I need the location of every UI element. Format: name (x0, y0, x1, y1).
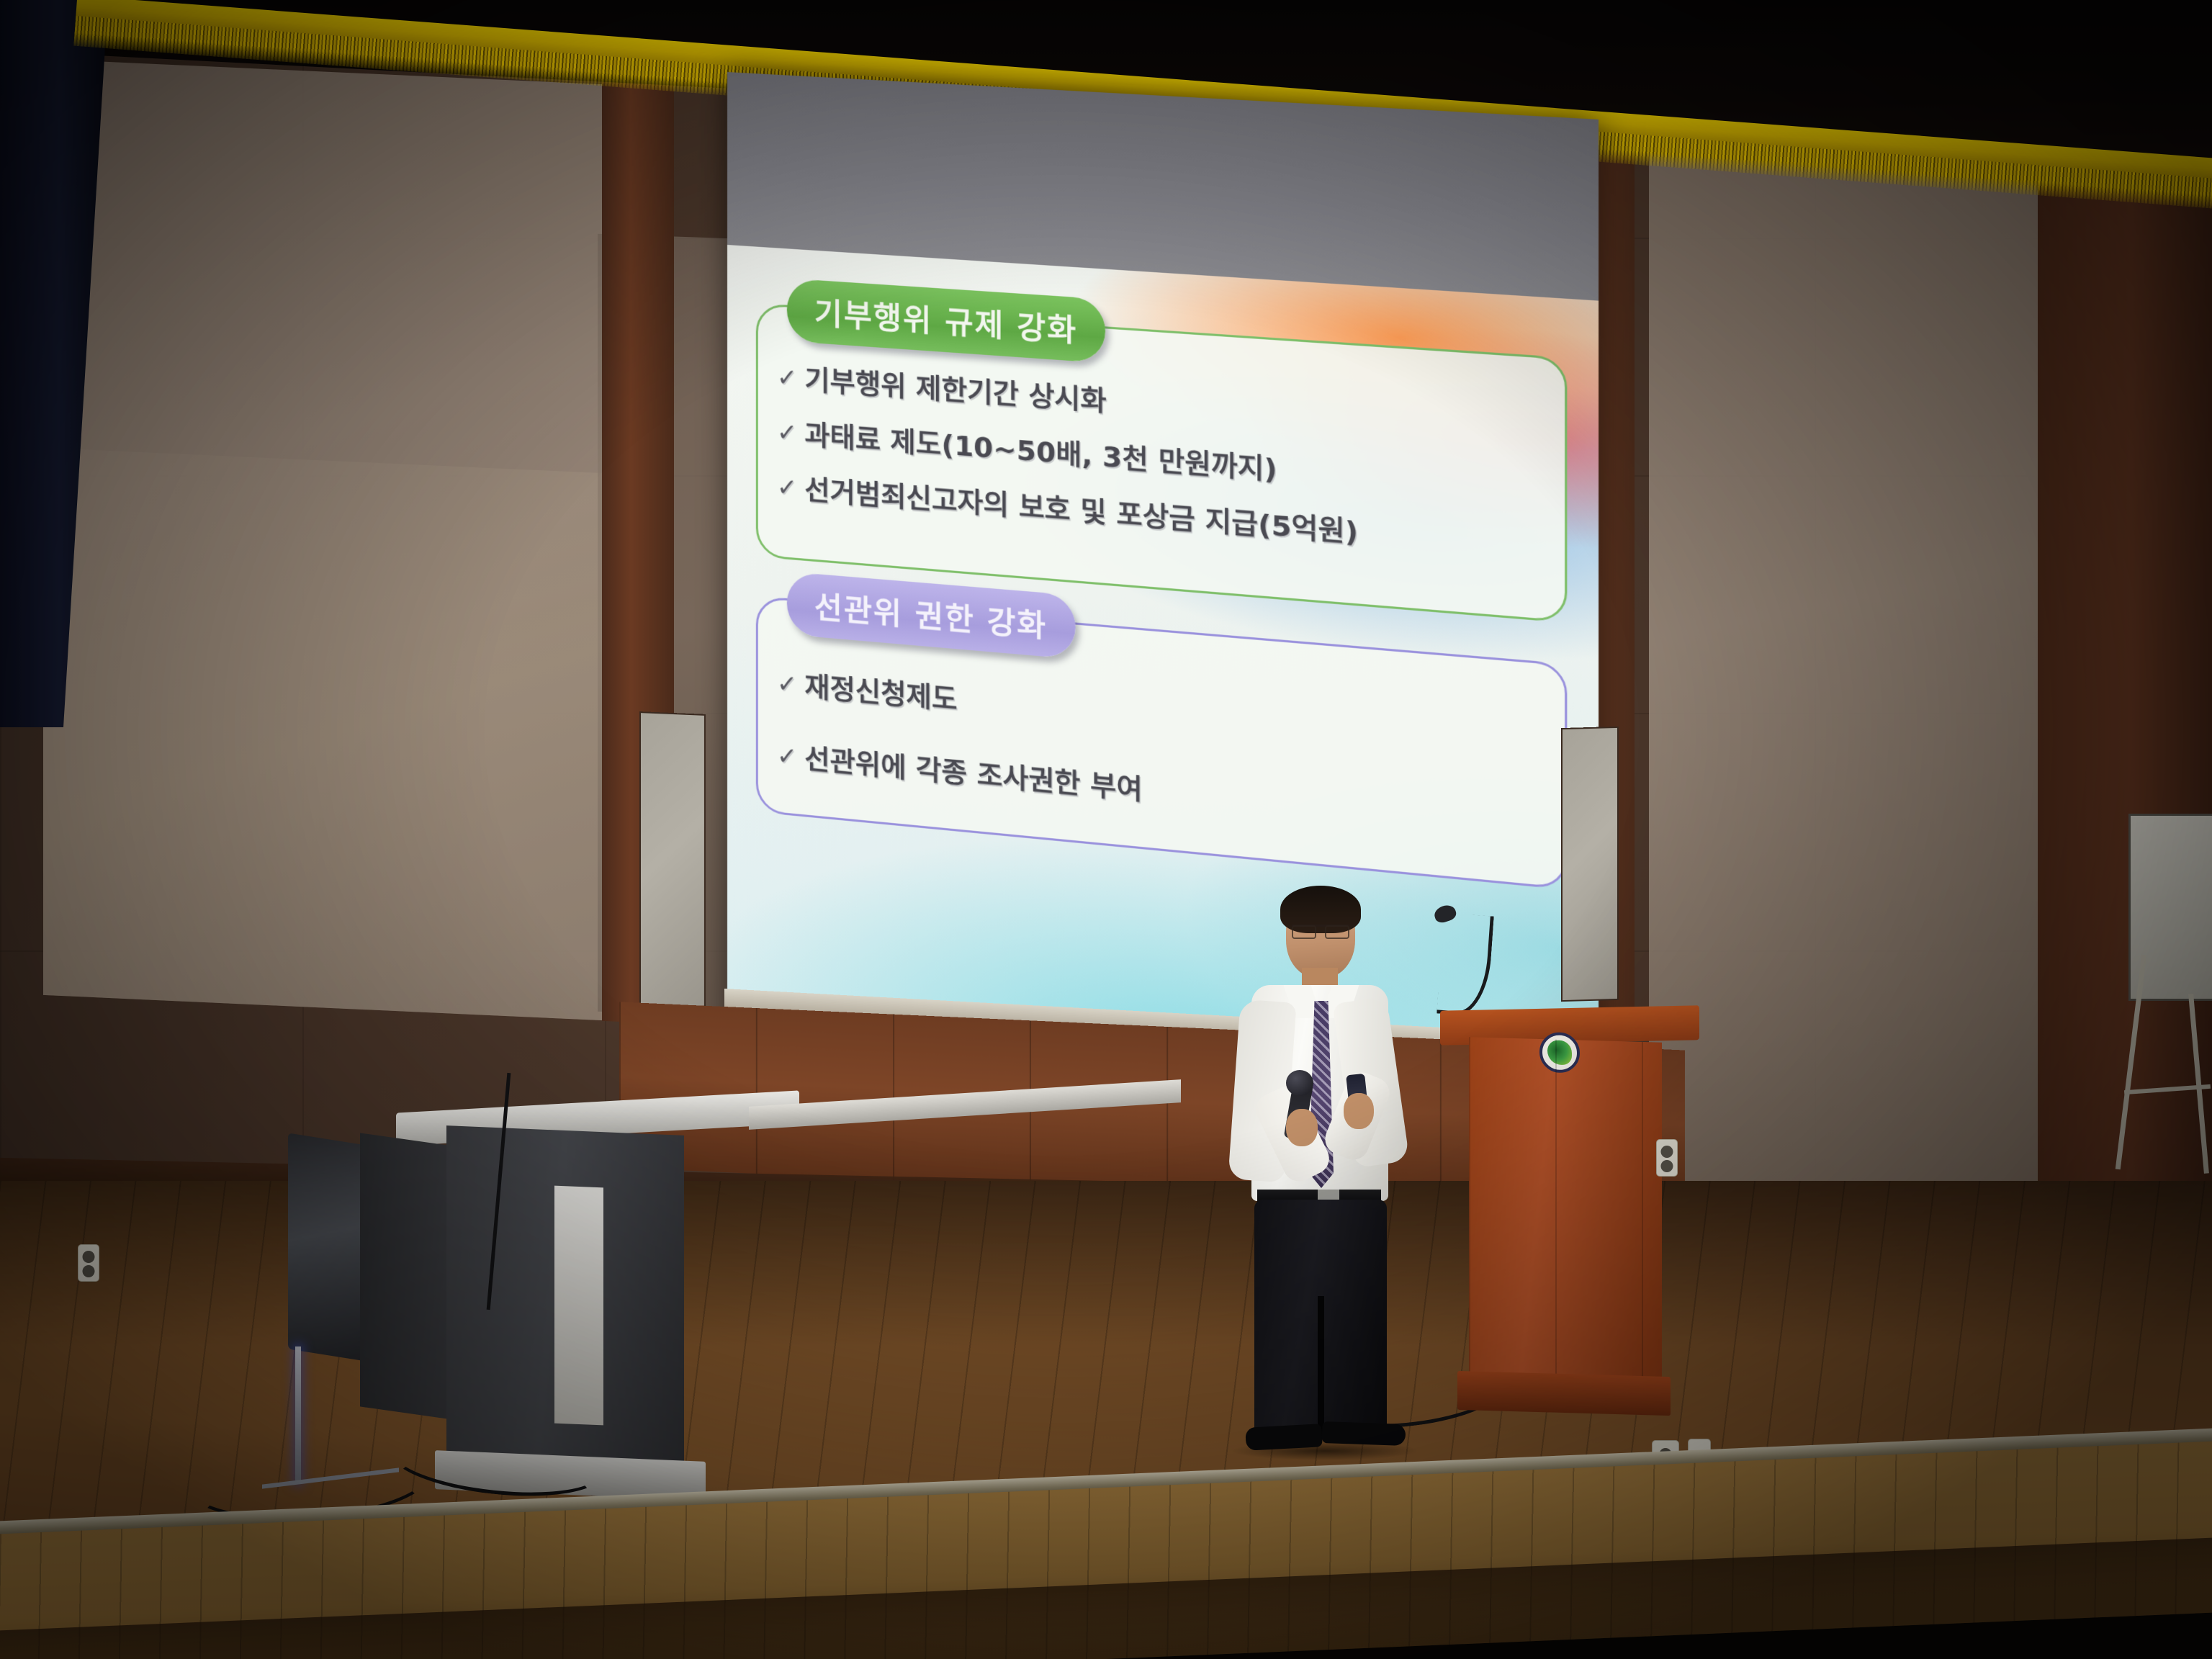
slide-section-commission-authority: 선관위 권한 강화 ✓ 재정신청제도 ✓ 선관위에 각종 조사권한 부여 (756, 595, 1568, 889)
presenter-hand-right (1344, 1093, 1374, 1129)
check-icon: ✓ (777, 472, 798, 503)
easel-leg (2188, 994, 2209, 1174)
organization-emblem-icon (1539, 1032, 1580, 1074)
presenter-hand-left (1286, 1109, 1318, 1146)
auditorium-scene: 기부행위 규제 강화 ✓ 기부행위 제한기간 상시화 ✓ 과태료 제도(10~5… (0, 0, 2212, 1659)
slide-section-donation-regulation: 기부행위 규제 강화 ✓ 기부행위 제한기간 상시화 ✓ 과태료 제도(10~5… (756, 303, 1568, 623)
check-icon: ✓ (777, 418, 798, 449)
bullet-text: 선관위에 각종 조사권한 부여 (804, 744, 1142, 806)
bullet-text: 기부행위 제한기간 상시화 (804, 365, 1106, 417)
check-icon: ✓ (777, 669, 798, 700)
wall-power-outlet (78, 1244, 99, 1282)
presenter (1217, 893, 1419, 1447)
av-cabinet-side-panel (360, 1133, 448, 1419)
wood-podium (1462, 1008, 1699, 1411)
audience-seating (0, 1469, 2212, 1659)
shoe (1322, 1421, 1406, 1446)
check-icon: ✓ (777, 363, 798, 394)
podium-body (1469, 1037, 1662, 1388)
bullet-text: 재정신청제도 (804, 671, 957, 715)
podium-base (1457, 1371, 1671, 1416)
av-cabinet-accent-panel (554, 1186, 603, 1426)
leaf-icon (1547, 1040, 1572, 1065)
whiteboard-easel (2110, 814, 2212, 1217)
check-icon: ✓ (777, 741, 798, 773)
shoe (1245, 1424, 1323, 1451)
loudspeaker-right (1561, 727, 1619, 1002)
bullet-text: 과태료 제도(10~50배, 3천 만원까지) (804, 420, 1277, 485)
trouser-leg-gap (1318, 1296, 1324, 1437)
eyeglasses-icon (1292, 925, 1349, 935)
loudspeaker-left (639, 711, 706, 1024)
microphone-capsule (1286, 1070, 1313, 1096)
acoustic-panel-left-lower (43, 448, 619, 1021)
wall-power-outlet (1656, 1139, 1678, 1177)
